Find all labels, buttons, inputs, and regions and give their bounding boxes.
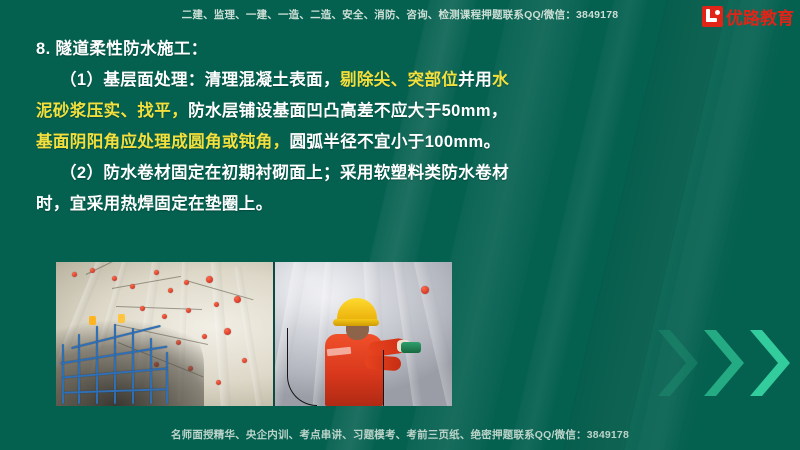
body-line-1: （1）基层面处理：清理混凝土表面，剔除尖、突部位并用水 (0, 65, 800, 96)
text-segment: （1）基层面处理：清理混凝土表面， (60, 71, 340, 89)
chevron-right-icon (656, 324, 698, 402)
text-segment: 并用 (458, 71, 492, 89)
body-line-5: 时，宜采用热焊固定在垫圈上。 (0, 189, 800, 220)
bottom-promo-banner: 名师面授精华、央企内训、考点串讲、习题模考、考前三页纸、绝密押题联系QQ/微信：… (0, 427, 800, 442)
highlighted-text-segment: 剔除尖、突部位 (340, 71, 458, 89)
top-promo-banner: 二建、监理、一建、一造、二造、安全、消防、咨询、检测课程押题联系QQ/微信：38… (0, 0, 800, 28)
u-logo-icon (702, 6, 723, 27)
body-line-3: 基面阴阳角应处理成圆角或钝角，圆弧半径不宜小于100mm。 (0, 127, 800, 158)
text-segment: （2）防水卷材固定在初期衬砌面上；采用软塑料类防水卷材 (60, 164, 509, 182)
text-segment: 防水层铺设基面凹凸高差不应大于50mm， (188, 102, 508, 120)
chevron-right-icon (702, 324, 744, 402)
tunnel-membrane-photo (56, 262, 273, 406)
bottom-promo-text: 名师面授精华、央企内训、考点串讲、习题模考、考前三页纸、绝密押题联系QQ/微信：… (171, 427, 629, 442)
body-line-2: 泥砂浆压实、找平，防水层铺设基面凹凸高差不应大于50mm， (0, 96, 800, 127)
text-segment: 圆弧半径不宜小于100mm。 (290, 133, 501, 151)
top-promo-text: 二建、监理、一建、一造、二造、安全、消防、咨询、检测课程押题联系QQ/微信：38… (182, 7, 619, 22)
photo-group (56, 262, 452, 406)
chevron-right-icon (748, 324, 790, 402)
chevron-arrows-decoration (656, 324, 790, 402)
worker-figure (313, 288, 401, 406)
brand-logo-text: 优路教育 (726, 4, 794, 29)
body-line-4: （2）防水卷材固定在初期衬砌面上；采用软塑料类防水卷材 (0, 158, 800, 189)
highlighted-text-segment: 泥砂浆压实、找平， (36, 102, 188, 120)
page-title: 8. 隧道柔性防水施工： (0, 34, 800, 65)
highlighted-text-segment: 基面阴阳角应处理成圆角或钝角， (36, 133, 290, 151)
brand-logo: 优路教育 (702, 4, 794, 29)
text-segment: 时，宜采用热焊固定在垫圈上。 (36, 195, 273, 213)
worker-welding-photo (275, 262, 452, 406)
highlighted-text-segment: 水 (492, 71, 509, 89)
slide-content: 8. 隧道柔性防水施工： （1）基层面处理：清理混凝土表面，剔除尖、突部位并用水… (0, 34, 800, 220)
page-title-text: 8. 隧道柔性防水施工： (36, 40, 208, 58)
